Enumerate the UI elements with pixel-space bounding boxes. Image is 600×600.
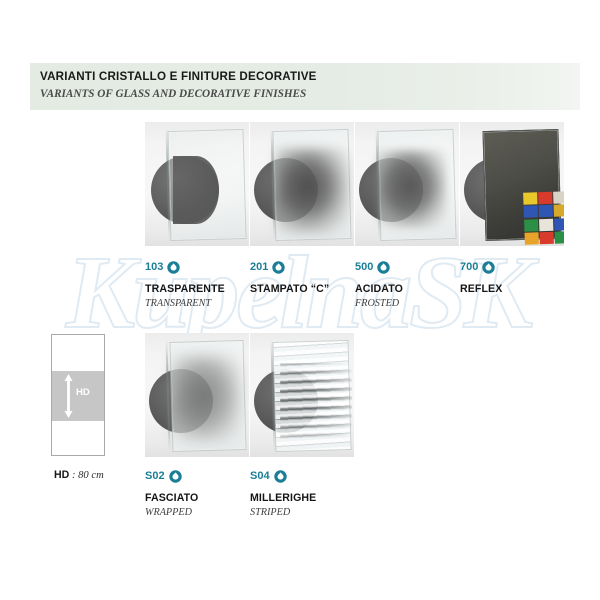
sample-code: 201 bbox=[250, 262, 268, 273]
caption-reflex: 700 REFLEX bbox=[460, 261, 578, 298]
sample-name-it: ACIDATO bbox=[355, 283, 473, 295]
sample-name-it: REFLEX bbox=[460, 283, 578, 295]
wrapped-sphere-through-glass bbox=[171, 355, 243, 443]
color-checker-cell-0 bbox=[523, 192, 537, 204]
hd-caption-key: HD bbox=[54, 469, 69, 481]
sphere-seen-through-glass bbox=[173, 156, 219, 224]
caption-stampato-c: 201 STAMPATO “C” bbox=[250, 261, 368, 298]
hd-label: HD bbox=[76, 387, 90, 398]
color-checker-cell-10 bbox=[540, 232, 554, 244]
sample-code: S04 bbox=[250, 471, 270, 482]
sample-code-row: 500 bbox=[355, 261, 473, 274]
sample-code-row: 201 bbox=[250, 261, 368, 274]
color-checker-cell-5 bbox=[554, 205, 564, 217]
color-checker-cell-3 bbox=[524, 206, 538, 218]
sample-code-row: S04 bbox=[250, 470, 368, 483]
sample-name-it: FASCIATO bbox=[145, 492, 263, 504]
water-drop-icon bbox=[169, 470, 182, 483]
water-drop-icon bbox=[272, 261, 285, 274]
sample-code: 500 bbox=[355, 262, 373, 273]
sample-image-reflex[interactable] bbox=[460, 122, 564, 246]
sample-name-it: STAMPATO “C” bbox=[250, 283, 368, 295]
sample-code: 103 bbox=[145, 262, 163, 273]
water-drop-icon bbox=[377, 261, 390, 274]
sample-image-trasparente[interactable] bbox=[145, 122, 249, 246]
sample-code-row: 103 bbox=[145, 261, 263, 274]
color-checker-cell-4 bbox=[539, 205, 553, 217]
color-checker-cell-9 bbox=[525, 232, 539, 244]
color-checker-cell-11 bbox=[555, 231, 564, 243]
sample-name-en: STRIPED bbox=[250, 507, 368, 518]
striped-sphere-through-glass bbox=[280, 363, 352, 439]
hd-dimension-diagram: HD bbox=[51, 334, 105, 456]
sample-name-en: FROSTED bbox=[355, 298, 473, 309]
glass-finishes-catalog-page: KupelnaSK VARIANTI CRISTALLO E FINITURE … bbox=[0, 0, 600, 600]
sample-code-row: S02 bbox=[145, 470, 263, 483]
water-drop-icon bbox=[167, 261, 180, 274]
sample-image-stampato-c[interactable] bbox=[250, 122, 354, 246]
color-checker-cell-7 bbox=[539, 219, 553, 231]
sample-name-en: WRAPPED bbox=[145, 507, 263, 518]
diffused-sphere-through-glass bbox=[276, 148, 350, 234]
color-checker-cell-1 bbox=[538, 192, 552, 204]
color-checker-cell-8 bbox=[554, 218, 564, 230]
water-drop-icon bbox=[274, 470, 287, 483]
hd-caption: HD : 80 cm bbox=[54, 469, 104, 481]
sample-image-acidato[interactable] bbox=[355, 122, 459, 246]
hd-caption-value: : 80 cm bbox=[69, 470, 103, 481]
water-drop-icon bbox=[482, 261, 495, 274]
color-checker-chart bbox=[523, 191, 564, 245]
page-title: VARIANTI CRISTALLO E FINITURE DECORATIVE bbox=[40, 70, 317, 83]
sample-name-it: MILLERIGHE bbox=[250, 492, 368, 504]
caption-trasparente: 103 TRASPARENTE TRANSPARENT bbox=[145, 261, 263, 309]
caption-acidato: 500 ACIDATO FROSTED bbox=[355, 261, 473, 309]
color-checker-cell-2 bbox=[553, 191, 564, 203]
sample-name-it: TRASPARENTE bbox=[145, 283, 263, 295]
caption-fasciato: S02 FASCIATO WRAPPED bbox=[145, 470, 263, 518]
caption-millerighe: S04 MILLERIGHE STRIPED bbox=[250, 470, 368, 518]
color-checker-cell-6 bbox=[524, 219, 538, 231]
frosted-sphere-through-glass bbox=[377, 150, 447, 228]
sample-name-en: TRANSPARENT bbox=[145, 298, 263, 309]
sample-code-row: 700 bbox=[460, 261, 578, 274]
sample-image-millerighe[interactable] bbox=[250, 333, 354, 457]
page-subtitle: VARIANTS OF GLASS AND DECORATIVE FINISHE… bbox=[40, 88, 306, 100]
sample-code: 700 bbox=[460, 262, 478, 273]
double-arrow-icon bbox=[63, 373, 74, 419]
sample-code: S02 bbox=[145, 471, 165, 482]
sample-image-fasciato[interactable] bbox=[145, 333, 249, 457]
